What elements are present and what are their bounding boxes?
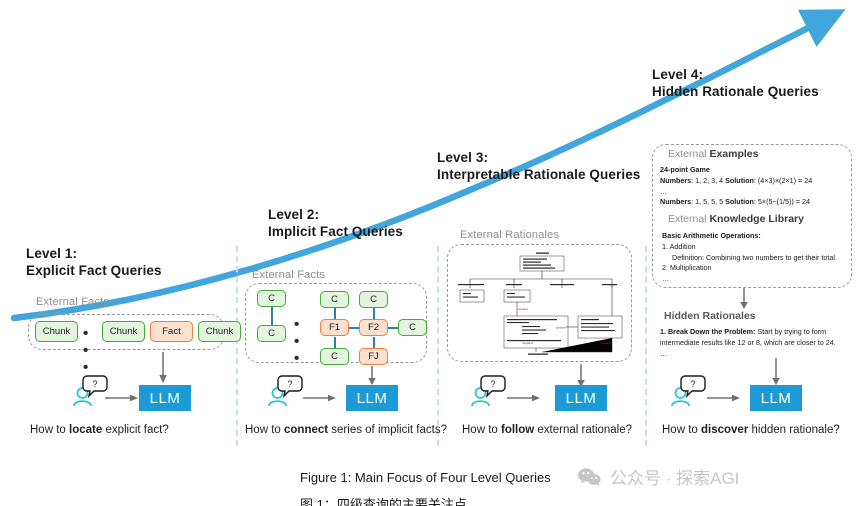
caption-emphasis: connect [284, 424, 328, 436]
level-1-right-arrow [105, 392, 139, 404]
library-item-1-definition: Definition: Combining two numbers to get… [662, 253, 837, 264]
watermark-text: 公众号 · 探索AGI [610, 464, 739, 489]
llm-box[interactable]: LLM [346, 385, 398, 411]
user-icon: ? [468, 374, 512, 406]
level-4-right-arrow [707, 392, 741, 404]
caption-post: hidden rationale? [748, 424, 839, 436]
library-ellipsis: … [662, 274, 669, 283]
chunk-node[interactable]: C [257, 325, 286, 342]
fact-node[interactable]: F2 [359, 319, 388, 336]
level-4-caption: How to discover hidden rationale? [662, 424, 840, 436]
figure-caption-cn: 图 1：四级查询的主要关注点 [300, 494, 467, 506]
ellipsis: • • • [83, 325, 90, 376]
wechat-icon [578, 467, 602, 487]
svg-text:?: ? [690, 379, 695, 389]
user-icon: ? [668, 374, 712, 406]
ellipsis: • • • [294, 316, 301, 367]
llm-box[interactable]: LLM [139, 385, 191, 411]
caption-emphasis: follow [501, 424, 534, 436]
chunk-node[interactable]: C [398, 319, 427, 336]
level-1-caption: How to locate explicit fact? [30, 424, 169, 436]
solution-label-2: Solution [725, 197, 754, 206]
figure-caption: Figure 1: Main Focus of Four Level Queri… [300, 470, 551, 485]
heading-bold: Examples [709, 148, 758, 160]
level-4-down-arrow-1 [738, 288, 750, 310]
chunk-node[interactable]: C [359, 291, 388, 308]
watermark: 公众号 · 探索AGI [578, 464, 739, 489]
chunk-node[interactable]: C [257, 290, 286, 307]
svg-text:positive: positive [518, 307, 529, 311]
panel-divider-1 [236, 246, 238, 446]
level-3-right-arrow [507, 392, 541, 404]
llm-box[interactable]: LLM [750, 385, 802, 411]
level-2-title-line1: Level 2: [268, 207, 403, 224]
level-2-title-line2: Implicit Fact Queries [268, 224, 403, 241]
numbers-label-1: Numbers [660, 176, 691, 185]
caption-emphasis: discover [701, 424, 748, 436]
level-2-title: Level 2: Implicit Fact Queries [268, 207, 403, 241]
caption-post: external rationale? [534, 424, 632, 436]
svg-text:positive: positive [556, 326, 567, 330]
fact-node[interactable]: FJ [359, 348, 388, 365]
level-2-down-arrow [366, 366, 378, 386]
heading-bold: Knowledge Library [709, 213, 804, 225]
numbers-label-2: Numbers [660, 197, 691, 206]
chunk-node[interactable]: C [320, 348, 349, 365]
chunk-node[interactable]: C [320, 291, 349, 308]
examples-ellipsis: … [660, 187, 667, 196]
hidden-rationales-body: 1. Break Down the Problem: Start by tryi… [660, 327, 838, 359]
level-3-caption: How to follow external rationale? [462, 424, 632, 436]
level-1-panel-label: External Facts [36, 296, 109, 308]
solution-value-2: : 5×(5−(1/5)) = 24 [754, 197, 810, 206]
library-item-1: 1. Addition [662, 242, 696, 251]
hidden-rationales-heading: Hidden Rationales [664, 310, 756, 322]
rationales-ellipsis: … [660, 349, 667, 358]
level-2-right-arrow [303, 392, 337, 404]
level-3-title-line2: Interpretable Rationale Queries [437, 167, 640, 184]
heading-light: External [668, 213, 709, 225]
panel-divider-2 [437, 246, 439, 446]
level-2-panel-label: External Facts [252, 269, 325, 281]
solution-value-1: : (4×3)×(2×1) = 24 [754, 176, 812, 185]
chunk-node[interactable]: Chunk [198, 321, 241, 342]
level-3-title-line1: Level 3: [437, 150, 640, 167]
external-examples-heading: External Examples [668, 148, 758, 160]
heading-light: External [668, 148, 709, 160]
caption-pre: How to [245, 424, 284, 436]
caption-post: series of implicit facts? [328, 424, 447, 436]
solution-label-1: Solution [725, 176, 754, 185]
numbers-value-1: : 1, 2, 3, 4 [691, 176, 725, 185]
level-4-down-arrow-2 [770, 358, 782, 386]
level-1-title-line2: Explicit Fact Queries [26, 263, 162, 280]
examples-title: 24-point Game [660, 165, 710, 174]
rationale-1-label: 1. Break Down the Problem: [660, 327, 755, 336]
level-3-title: Level 3: Interpretable Rationale Queries [437, 150, 640, 184]
svg-text:negative: negative [600, 341, 612, 345]
chunk-node[interactable]: Chunk [35, 321, 78, 342]
level-3-panel-label: External Rationales [460, 229, 559, 241]
caption-pre: How to [30, 424, 69, 436]
level-4-title-line2: Hidden Rationale Queries [652, 84, 819, 101]
svg-text:negative: negative [522, 341, 534, 345]
graph-edge [271, 306, 273, 326]
level-2-caption: How to connect series of implicit facts? [245, 424, 447, 436]
chunk-node[interactable]: Chunk [102, 321, 145, 342]
library-title: Basic Arithmetic Operations: [662, 231, 761, 240]
level-4-title: Level 4: Hidden Rationale Queries [652, 67, 819, 101]
figure-canvas: Level 1: Explicit Fact Queries External … [0, 0, 862, 506]
caption-pre: How to [662, 424, 701, 436]
level-1-down-arrow [157, 352, 169, 384]
caption-emphasis: locate [69, 424, 102, 436]
level-4-title-line1: Level 4: [652, 67, 819, 84]
clinical-decision-flowchart: positive positive negative [452, 248, 628, 358]
caption-post: explicit fact? [102, 424, 168, 436]
library-body: Basic Arithmetic Operations: 1. Addition… [662, 231, 844, 285]
panel-divider-3 [645, 246, 647, 446]
numbers-value-2: : 1, 5, 5, 5 [691, 197, 725, 206]
level-1-title-line1: Level 1: [26, 246, 162, 263]
fact-node[interactable]: Fact [150, 321, 193, 342]
caption-pre: How to [462, 424, 501, 436]
svg-text:?: ? [287, 379, 292, 389]
level-1-title: Level 1: Explicit Fact Queries [26, 246, 162, 280]
llm-box[interactable]: LLM [555, 385, 607, 411]
fact-node[interactable]: F1 [320, 319, 349, 336]
library-item-2: 2. Multiplication [662, 263, 712, 272]
svg-text:?: ? [490, 379, 495, 389]
svg-text:?: ? [92, 379, 97, 389]
knowledge-library-heading: External Knowledge Library [668, 213, 804, 225]
examples-body: 24-point Game Numbers: 1, 2, 3, 4 Soluti… [660, 165, 848, 208]
